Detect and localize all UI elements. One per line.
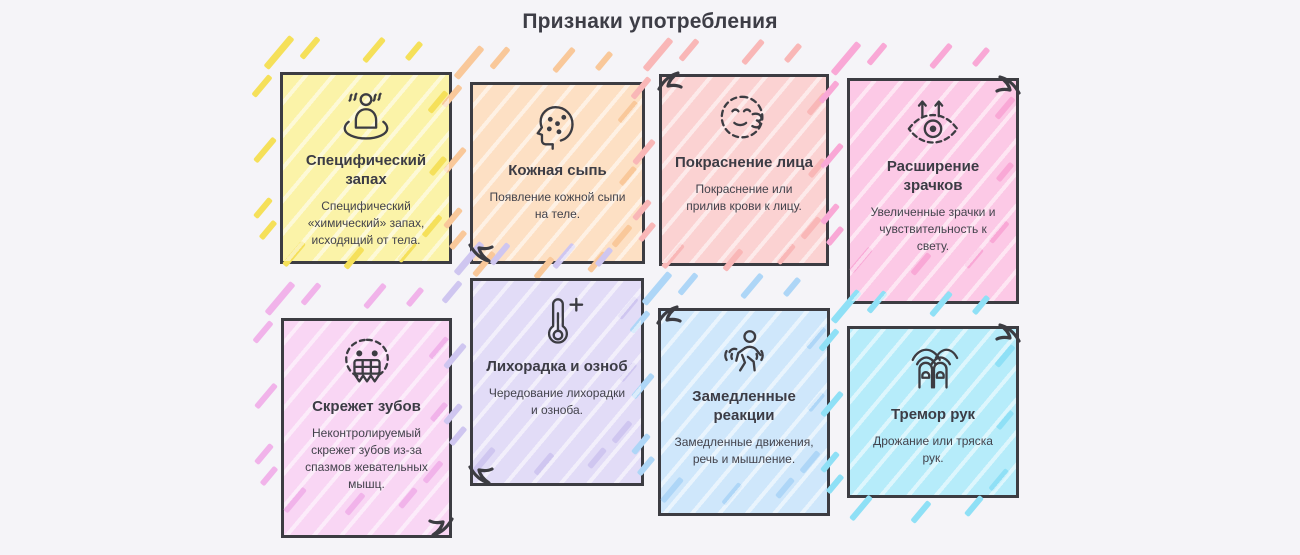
blushing-face-icon (713, 91, 775, 147)
symptom-card-specific-smell[interactable]: Специфический запахСпецифический «химиче… (280, 72, 452, 264)
running-person-icon (713, 325, 775, 381)
symptom-card-slowed-reactions[interactable]: Замедленные реакцииЗамедленные движения,… (658, 308, 830, 516)
card-description: Дрожание или тряска рук. (862, 433, 1004, 467)
card-title: Расширение зрачков (862, 157, 1004, 195)
symptom-card-hand-tremor[interactable]: Тремор рукДрожание или тряска рук. (847, 326, 1019, 498)
symptom-card-fever-chills[interactable]: Лихорадка и ознобЧередование лихорадки и… (470, 278, 644, 486)
thermometer-icon (526, 295, 588, 351)
card-title: Специфический запах (295, 151, 437, 189)
card-description: Замедленные движения, речь и мышление. (673, 434, 815, 468)
symptom-card-teeth-grinding[interactable]: Скрежет зубовНеконтролируемый скрежет зу… (281, 318, 452, 538)
head-rash-icon (527, 99, 589, 155)
card-title: Тремор рук (891, 405, 975, 424)
card-title: Кожная сыпь (508, 161, 607, 180)
card-title: Замедленные реакции (673, 387, 815, 425)
card-description: Покраснение или прилив крови к лицу. (674, 181, 814, 215)
symptom-card-facial-redness[interactable]: Покраснение лицаПокраснение или прилив к… (659, 74, 829, 266)
grinding-teeth-face-icon (336, 335, 398, 391)
vibrating-hands-icon (902, 343, 964, 399)
card-description: Специфический «химический» запах, исходя… (295, 198, 437, 249)
symptom-card-dilated-pupils[interactable]: Расширение зрачковУвеличенные зрачки и ч… (847, 78, 1019, 304)
card-description: Неконтролируемый скрежет зубов из-за спа… (296, 425, 437, 493)
folded-corner-decoration (469, 460, 503, 488)
dilated-eye-icon (902, 95, 964, 151)
folded-corner-decoration (419, 512, 453, 540)
card-description: Увеличенные зрачки и чувствительность к … (862, 204, 1004, 255)
symptom-card-skin-rash[interactable]: Кожная сыпьПоявление кожной сыпи на теле… (470, 82, 645, 264)
card-description: Появление кожной сыпи на теле. (485, 189, 630, 223)
smell-person-icon (335, 89, 397, 145)
card-title: Покраснение лица (675, 153, 813, 172)
card-description: Чередование лихорадки и озноба. (485, 385, 629, 419)
symptom-card-board: Специфический запахСпецифический «химиче… (0, 0, 1300, 546)
card-title: Лихорадка и озноб (486, 357, 627, 376)
folded-corner-decoration (469, 238, 503, 266)
card-title: Скрежет зубов (312, 397, 421, 416)
